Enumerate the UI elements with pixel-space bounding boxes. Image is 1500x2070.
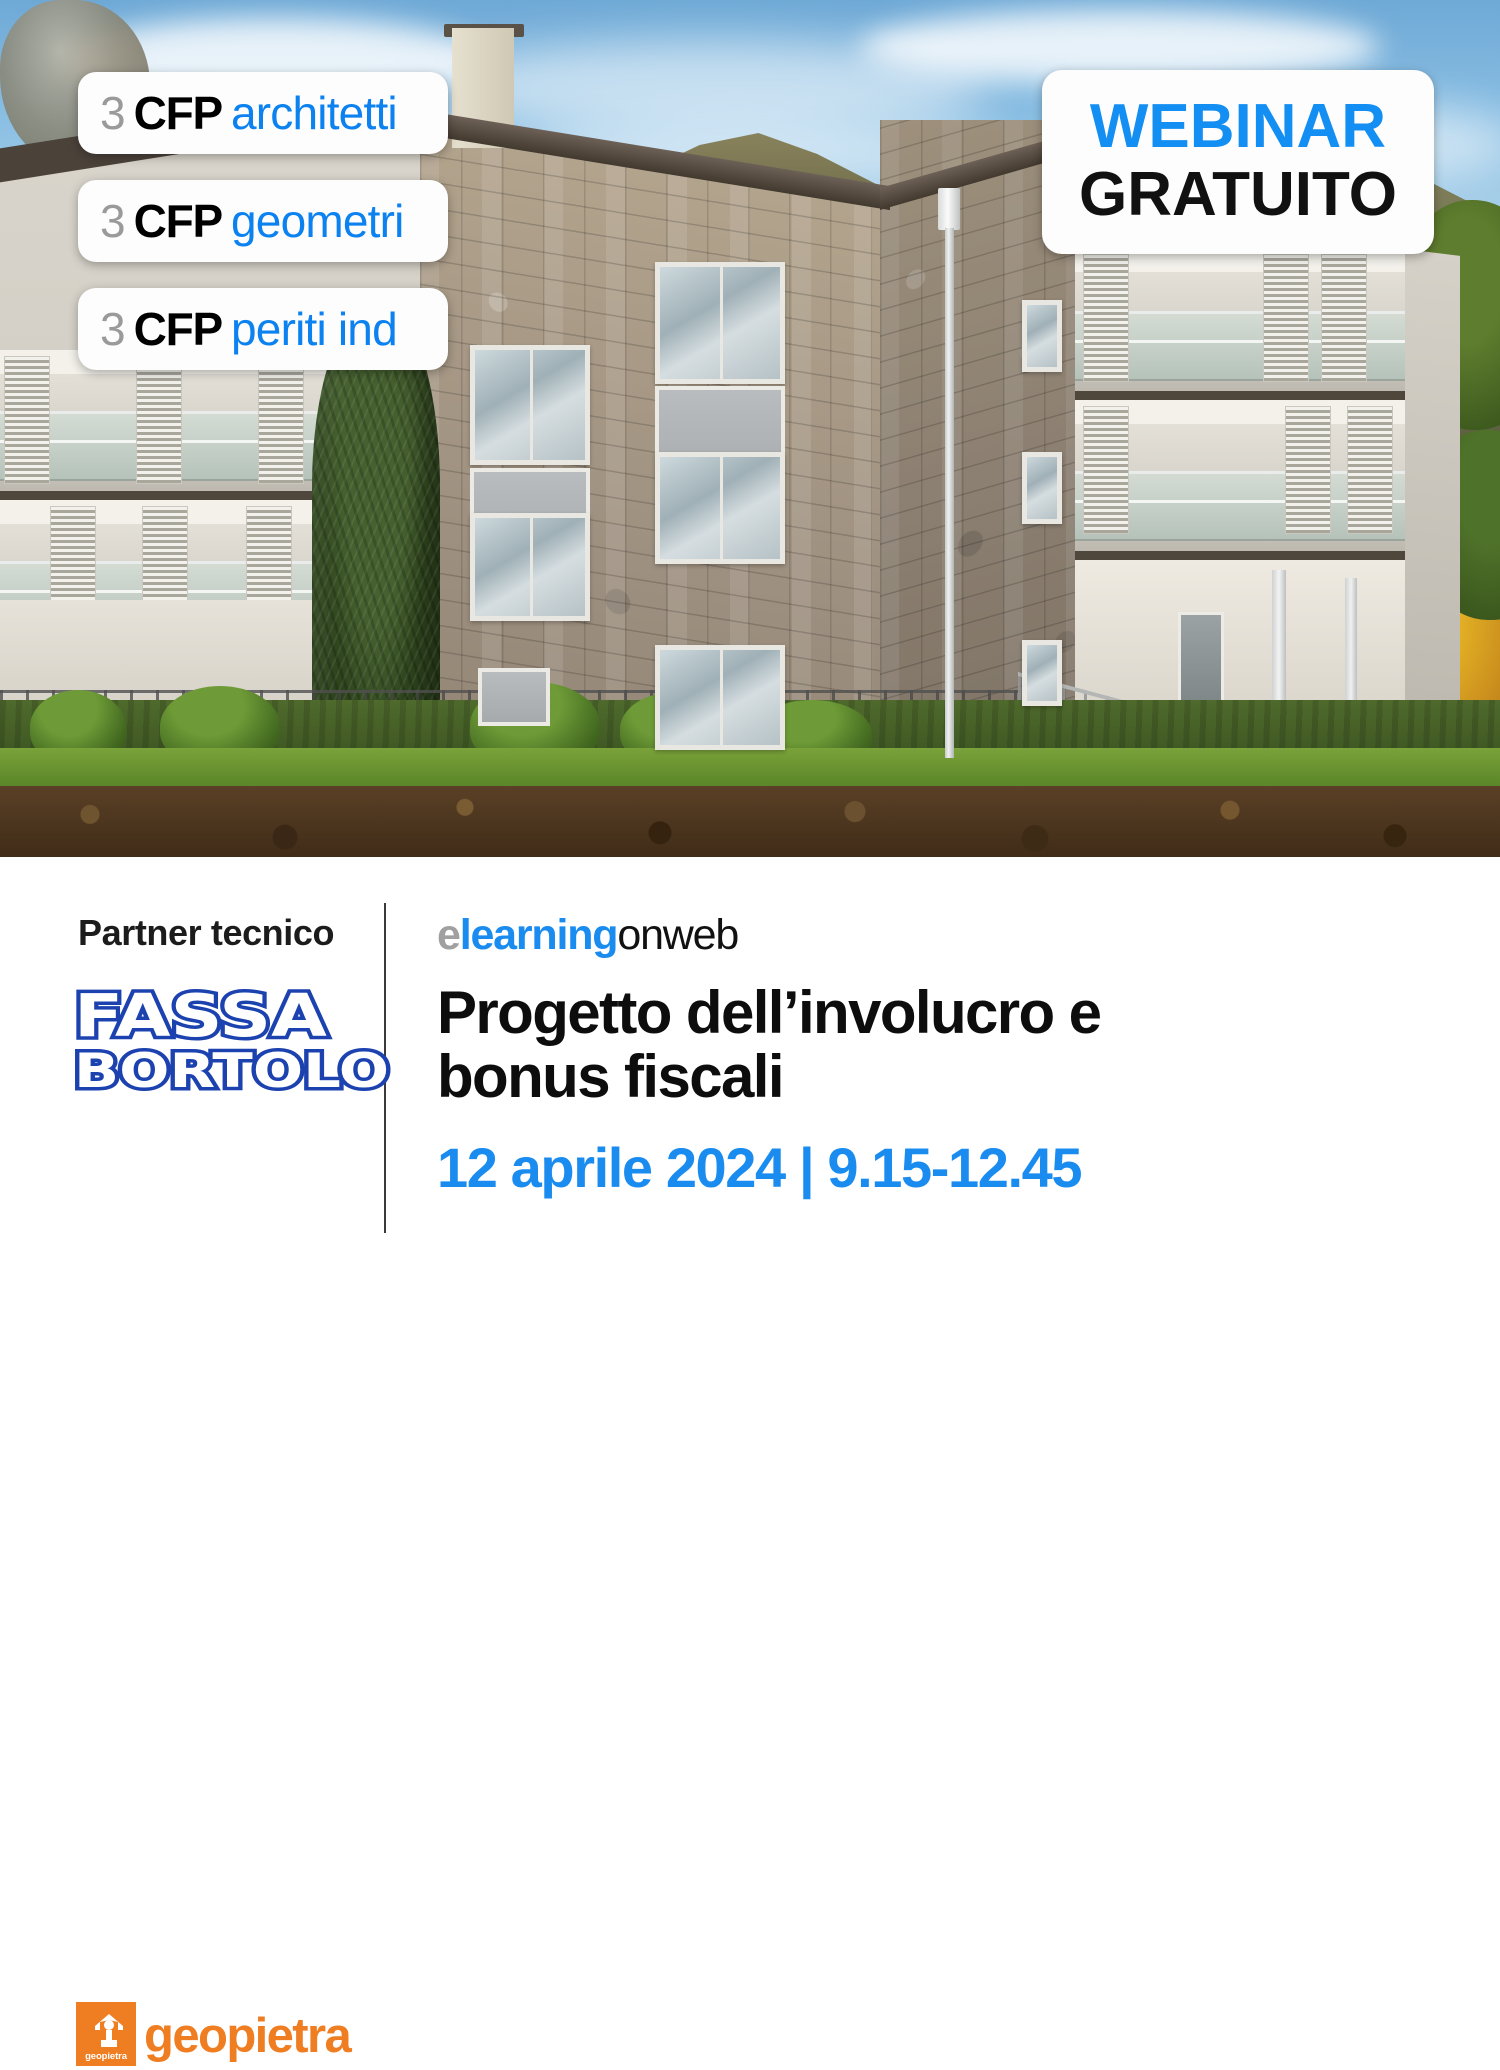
- window: [1022, 640, 1062, 706]
- geopietra-logo: geopietra geopietra: [76, 2002, 336, 2070]
- brand-part-e: e: [437, 911, 460, 959]
- soil-bed: [0, 786, 1500, 857]
- window: [1022, 300, 1062, 372]
- louver-shutter: [1347, 406, 1393, 534]
- geopietra-mark-word: geopietra: [78, 2051, 134, 2062]
- brand-part-onweb: onweb: [617, 911, 738, 959]
- cfp-number: 3: [100, 86, 125, 140]
- webinar-title: Progetto dell’involucro e bonus fiscali: [437, 981, 1457, 1109]
- cfp-unit: CFP: [134, 194, 222, 248]
- geopietra-wordmark: geopietra: [144, 2008, 350, 2064]
- louver-shutter: [136, 356, 182, 484]
- window: [655, 262, 785, 384]
- brand-part-learning: learning: [460, 911, 618, 959]
- fassa-bortolo-logo: FASSA BORTOLO: [74, 982, 336, 1100]
- window: [655, 645, 785, 750]
- window: [470, 513, 590, 621]
- gratuito-label: GRATUITO: [1079, 162, 1397, 229]
- badge-cfp-periti-ind: 3 CFP periti ind: [78, 288, 448, 370]
- fassa-logo-line1: FASSA: [74, 988, 327, 1043]
- cfp-number: 3: [100, 194, 125, 248]
- cfp-unit: CFP: [134, 86, 222, 140]
- elearningonweb-logo: elearningonweb: [437, 914, 738, 957]
- geopietra-house-figure-icon: [88, 2010, 130, 2050]
- cfp-unit: CFP: [134, 302, 222, 356]
- webinar-label: WEBINAR: [1090, 96, 1386, 158]
- info-panel: Partner tecnico FASSA BORTOLO geopietra …: [0, 857, 1500, 1286]
- badge-cfp-architetti: 3 CFP architetti: [78, 72, 448, 154]
- louver-shutter: [1263, 254, 1309, 382]
- louver-shutter: [1083, 254, 1129, 382]
- geopietra-mark: geopietra: [76, 2002, 136, 2066]
- cfp-profession: periti ind: [231, 302, 397, 356]
- downpipe: [945, 228, 954, 758]
- window: [655, 452, 785, 564]
- cfp-number: 3: [100, 302, 125, 356]
- cfp-profession: architetti: [231, 86, 397, 140]
- downpipe-head: [938, 188, 960, 230]
- cfp-profession: geometri: [231, 194, 404, 248]
- fassa-logo-line2: BORTOLO: [74, 1050, 389, 1094]
- hero-photo: 3 CFP architetti 3 CFP geometri 3 CFP pe…: [0, 0, 1500, 857]
- balcony-right-lower: [1075, 400, 1405, 560]
- badge-webinar-gratuito: WEBINAR GRATUITO: [1042, 70, 1434, 254]
- badge-cfp-geometri: 3 CFP geometri: [78, 180, 448, 262]
- partner-tecnico-label: Partner tecnico: [78, 912, 334, 954]
- louver-shutter: [1321, 254, 1367, 382]
- window-shade: [478, 668, 550, 726]
- louver-shutter: [4, 356, 50, 484]
- webinar-title-line2: bonus fiscali: [437, 1045, 1457, 1109]
- balcony-right-upper: [1075, 248, 1405, 400]
- window: [470, 345, 590, 465]
- window: [1022, 452, 1062, 524]
- webinar-datetime: 12 aprile 2024 | 9.15-12.45: [437, 1135, 1081, 1200]
- louver-shutter: [1083, 406, 1129, 534]
- louver-shutter: [258, 356, 304, 484]
- webinar-title-line1: Progetto dell’involucro e: [437, 981, 1457, 1045]
- louver-shutter: [1285, 406, 1331, 534]
